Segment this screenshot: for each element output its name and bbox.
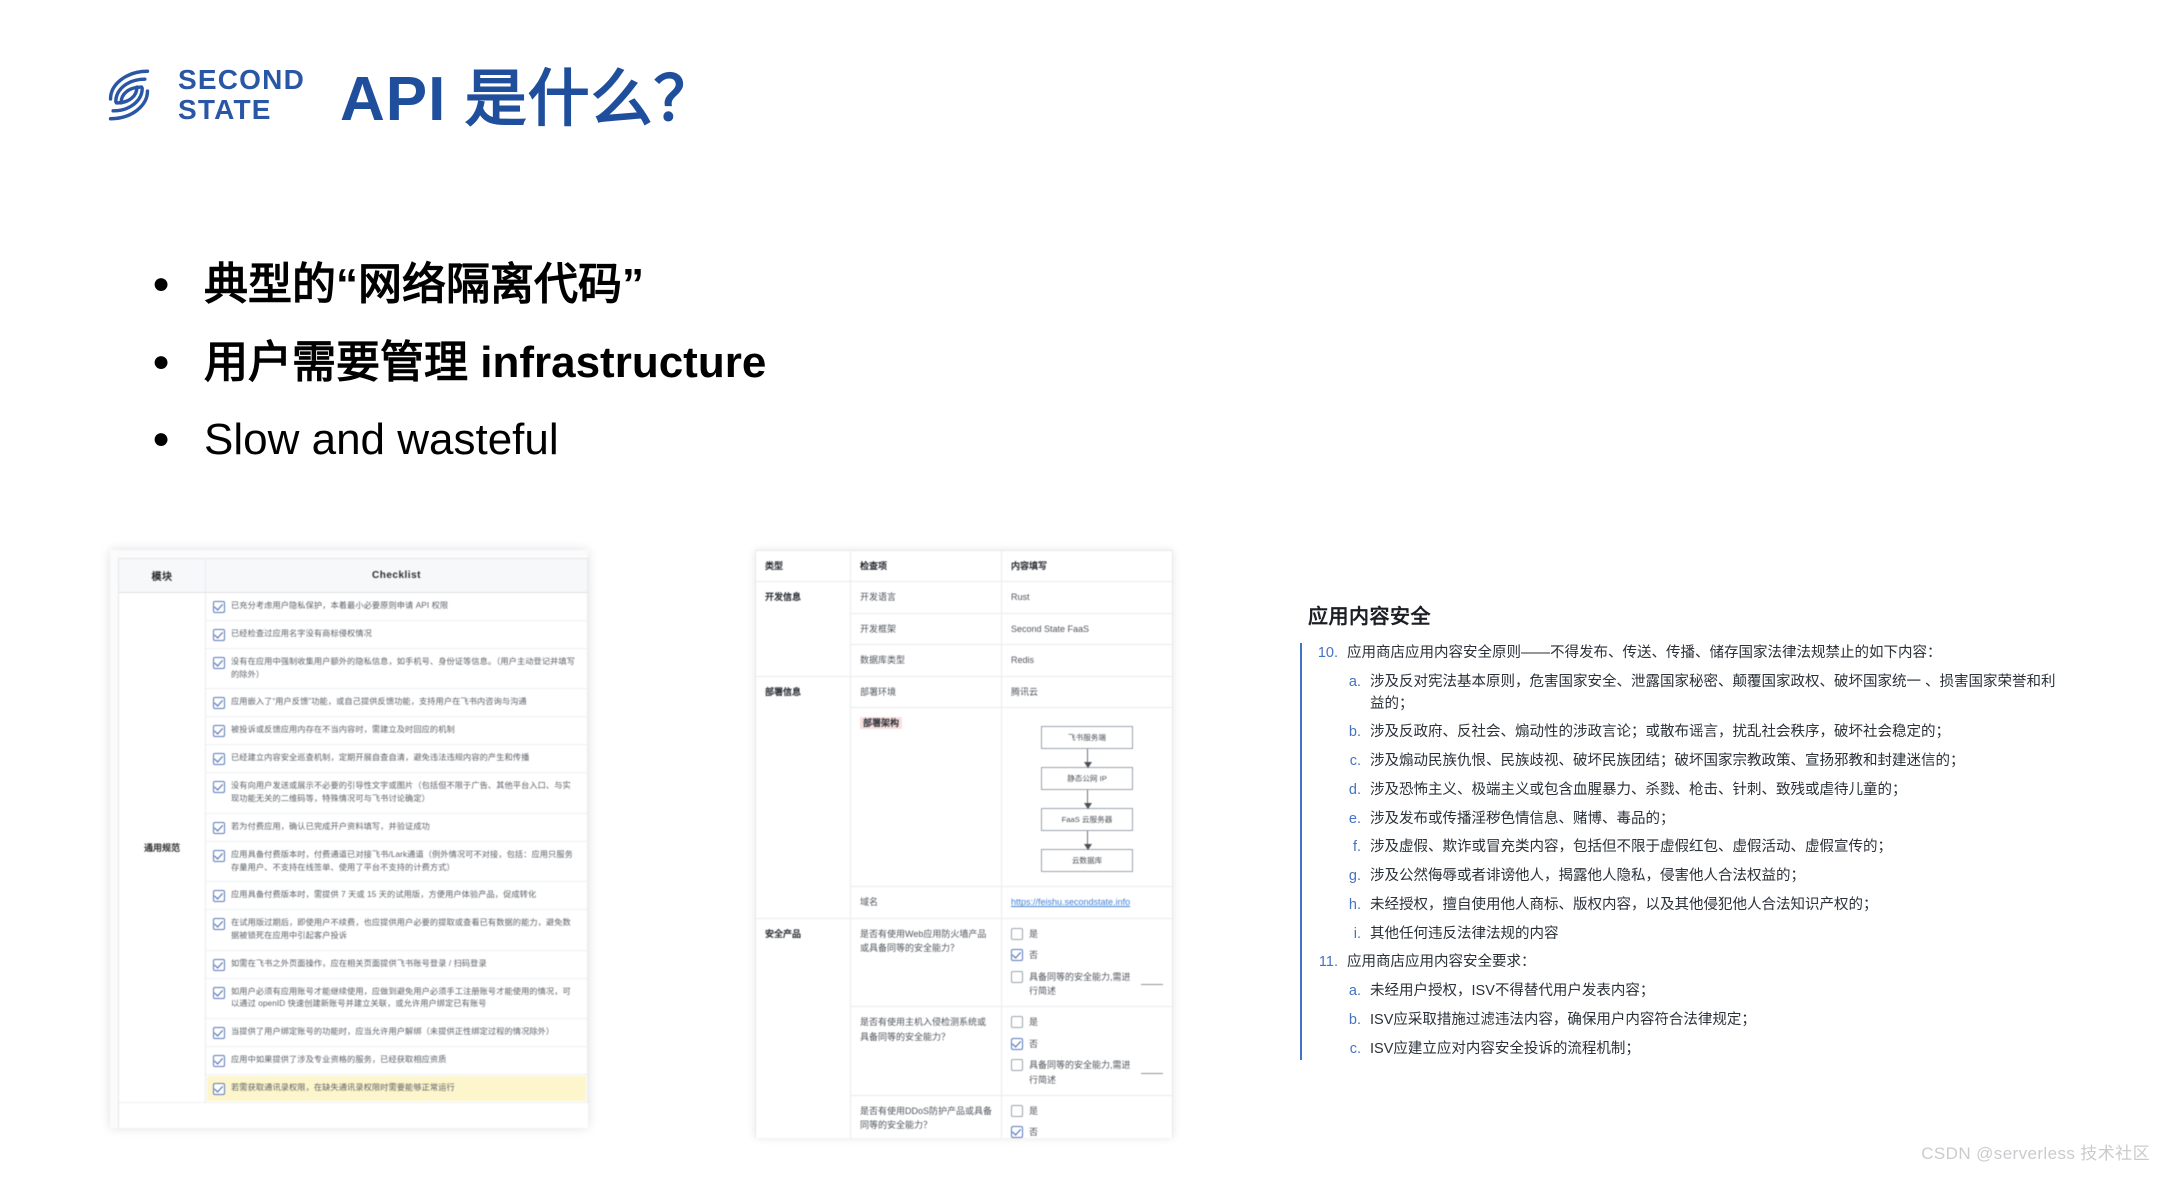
column-header-value: 内容填写 bbox=[1002, 551, 1173, 582]
question-label: 是否有使用Web应用防火墙产品或具备同等的安全能力？ bbox=[851, 918, 1002, 1007]
checklist-cell: 应用中如果提供了涉及专业资格的服务，已经获取相应资质 bbox=[206, 1047, 588, 1075]
checkbox-unchecked-icon[interactable] bbox=[1011, 928, 1023, 940]
checkbox-checked-icon[interactable] bbox=[213, 1055, 225, 1067]
option-label: 是 bbox=[1029, 1015, 1038, 1029]
policy-subitem-letter: h. bbox=[1348, 895, 1361, 917]
checklist-item: 应用中如果提供了涉及专业资格的服务，已经获取相应资质 bbox=[207, 1048, 586, 1073]
question-label: 是否有使用DDoS防护产品或具备同等的安全能力？ bbox=[851, 1095, 1002, 1138]
bullet-label: 典型的“网络隔离代码” bbox=[204, 258, 644, 312]
radio-option[interactable]: 是 bbox=[1011, 1015, 1163, 1029]
highlighted-cell-text: 部署架构 bbox=[860, 717, 902, 729]
checklist-item-label: 如用户必须有应用账号才能继续使用，应做到避免用户必须手工注册账号才能使用的情况，… bbox=[231, 986, 578, 1011]
list-item: ● 用户需要管理 infrastructure bbox=[150, 336, 1350, 390]
question-label: 是否有使用主机入侵检测系统或具备同等的安全能力？ bbox=[851, 1007, 1002, 1096]
row-value-domain: https://feishu.secondstate.info bbox=[1002, 887, 1173, 918]
checklist-cell: 应用具备付费版本时，付费通道已对接飞书/Lark通道（例外情况可不对接，包括：应… bbox=[206, 841, 588, 881]
policy-subitem-letter: a. bbox=[1348, 672, 1361, 716]
checkbox-unchecked-icon[interactable] bbox=[1011, 971, 1023, 983]
bullet-label: 用户需要管理 infrastructure bbox=[204, 336, 766, 390]
checklist-item-label: 若为付费应用，确认已完成开户资料填写，并验证成功 bbox=[231, 821, 430, 834]
checklist-item: 在试用版过期后，即使用户不续费，也应提供用户必要的提取或查看已有数据的能力，避免… bbox=[207, 911, 586, 948]
policy-subitem-text: 涉及反政府、反社会、煽动性的涉政言论；或散布谣言，扰乱社会秩序，破坏社会稳定的； bbox=[1370, 722, 1950, 744]
checklist-cell: 如用户必须有应用账号才能继续使用，应做到避免用户必须手工注册账号才能使用的情况，… bbox=[206, 978, 588, 1018]
checkbox-unchecked-icon[interactable] bbox=[1011, 1059, 1023, 1071]
checklist-item-label: 被投诉或反馈应用内存在不当内容时，需建立及时回应的机制 bbox=[231, 724, 455, 737]
policy-subitem: b.涉及反政府、反社会、煽动性的涉政言论；或散布谣言，扰乱社会秩序，破坏社会稳定… bbox=[1348, 722, 2070, 744]
checklist-cell: 如需在飞书之外页面操作，应在相关页面提供飞书账号登录 / 扫码登录 bbox=[206, 950, 588, 978]
policy-subitem: d.涉及恐怖主义、极端主义或包含血腥暴力、杀戮、枪击、针刺、致残或虐待儿童的； bbox=[1348, 780, 2070, 802]
policy-subitem-text: 涉及虚假、欺诈或冒充类内容，包括但不限于虚假红包、虚假活动、虚假宣传的； bbox=[1370, 837, 1892, 859]
brand-line-2: STATE bbox=[178, 95, 305, 125]
column-header-type: 类型 bbox=[756, 551, 851, 582]
column-header-item: 检查项 bbox=[851, 551, 1002, 582]
policy-subitem-text: 涉及恐怖主义、极端主义或包含血腥暴力、杀戮、枪击、针刺、致残或虐待儿童的； bbox=[1370, 780, 1907, 802]
checklist-item: 被投诉或反馈应用内存在不当内容时，需建立及时回应的机制 bbox=[207, 718, 586, 743]
checklist-item: 如需在飞书之外页面操作，应在相关页面提供飞书账号登录 / 扫码登录 bbox=[207, 952, 586, 977]
write-in-field[interactable] bbox=[1141, 970, 1163, 985]
checklist-cell: 应用具备付费版本时，需提供 7 天或 15 天的试用版，方便用户体验产品，促成转… bbox=[206, 882, 588, 910]
watermark: CSDN @serverless 技术社区 bbox=[1921, 1139, 2150, 1164]
checklist-item: 当提供了用户绑定账号的功能时，应当允许用户解绑（未提供正性绑定过程的情况除外） bbox=[207, 1020, 586, 1045]
policy-section: 11.应用商店应用内容安全要求： bbox=[1316, 952, 2070, 974]
checkbox-checked-icon[interactable] bbox=[213, 890, 225, 902]
policy-subitem-letter: i. bbox=[1348, 924, 1361, 946]
policy-subitem-text: 未经授权，擅自使用他人商标、版权内容，以及其他侵犯他人合法知识产权的； bbox=[1370, 895, 1878, 917]
checkbox-checked-icon[interactable] bbox=[213, 987, 225, 999]
checklist-item: 若为付费应用，确认已完成开户资料填写，并验证成功 bbox=[207, 815, 586, 840]
checklist-item: 已经检查过应用名字没有商标侵权情况 bbox=[207, 622, 586, 647]
checklist-item-label: 应用具备付费版本时，需提供 7 天或 15 天的试用版，方便用户体验产品，促成转… bbox=[231, 889, 536, 902]
checkbox-checked-icon[interactable] bbox=[213, 753, 225, 765]
checklist-cell: 被投诉或反馈应用内存在不当内容时，需建立及时回应的机制 bbox=[206, 717, 588, 745]
policy-subitem-letter: g. bbox=[1348, 866, 1361, 888]
policy-subitem-letter: a. bbox=[1348, 981, 1361, 1003]
policy-title: 应用内容安全 bbox=[1308, 600, 2070, 629]
checklist-item-label: 应用具备付费版本时，付费通道已对接飞书/Lark通道（例外情况可不对接，包括：应… bbox=[231, 849, 578, 874]
table-header-row: 模块 Checklist bbox=[119, 559, 588, 593]
policy-subitem: a.涉及反对宪法基本原则，危害国家安全、泄露国家秘密、颠覆国家政权、破坏国家统一… bbox=[1348, 672, 2070, 716]
checkbox-checked-icon[interactable] bbox=[213, 725, 225, 737]
checklist-item: 应用嵌入了“用户反馈”功能，或自己提供反馈功能，支持用户在飞书内咨询与沟通 bbox=[207, 690, 586, 715]
option-label: 具备同等的安全能力,需进行简述 bbox=[1029, 1058, 1135, 1087]
checklist-item-label: 没有在应用中强制收集用户额外的隐私信息，如手机号、身份证等信息。（用户主动登记并… bbox=[231, 656, 578, 681]
policy-subitem: c.涉及煽动民族仇恨、民族歧视、破坏民族团结；破坏国家宗教政策、宣扬邪教和封建迷… bbox=[1348, 751, 2070, 773]
list-item: ● Slow and wasteful bbox=[150, 413, 1350, 467]
checkbox-checked-icon[interactable] bbox=[213, 1027, 225, 1039]
policy-subitem: h.未经授权，擅自使用他人商标、版权内容，以及其他侵犯他人合法知识产权的； bbox=[1348, 895, 2070, 917]
option-label: 否 bbox=[1029, 1125, 1038, 1138]
policy-subitem: c.ISV应建立应对内容安全投诉的流程机制； bbox=[1348, 1039, 2070, 1061]
option-label: 是 bbox=[1029, 1104, 1038, 1118]
checklist-item: 应用具备付费版本时，付费通道已对接飞书/Lark通道（例外情况可不对接，包括：应… bbox=[207, 843, 586, 880]
policy-subitem-letter: d. bbox=[1348, 780, 1361, 802]
policy-section-number: 10. bbox=[1316, 643, 1338, 665]
option-label: 是 bbox=[1029, 927, 1038, 941]
bullet-marker-icon: ● bbox=[150, 336, 204, 388]
checklist-cell: 若需获取通讯录权限，在缺失通讯录权限时需要能够正常运行 bbox=[206, 1075, 588, 1103]
policy-subitem-text: ISV应建立应对内容安全投诉的流程机制； bbox=[1370, 1039, 1640, 1061]
policy-subitem-letter: b. bbox=[1348, 722, 1361, 744]
row-label-domain: 域名 bbox=[851, 887, 1002, 918]
checkbox-checked-icon[interactable] bbox=[213, 629, 225, 641]
row-label-deploy-env: 部署环境 bbox=[851, 676, 1002, 707]
policy-subitem-text: 涉及公然侮辱或者诽谤他人，揭露他人隐私，侵害他人合法权益的； bbox=[1370, 866, 1805, 888]
checkbox-checked-icon[interactable] bbox=[213, 822, 225, 834]
checklist-item: 没有在应用中强制收集用户额外的隐私信息，如手机号、身份证等信息。（用户主动登记并… bbox=[207, 650, 586, 687]
policy-subitem-text: 其他任何违反法律法规的内容 bbox=[1370, 924, 1559, 946]
screenshot-content-security-policy: 应用内容安全 10.应用商店应用内容安全原则——不得发布、传送、传播、储存国家法… bbox=[1300, 600, 2070, 1060]
checklist-item: 已经建立内容安全巡查机制，定期开展自查自清，避免违法违规内容的产生和传播 bbox=[207, 746, 586, 771]
checkbox-unchecked-icon[interactable] bbox=[1011, 1105, 1023, 1117]
radio-option[interactable]: 是 bbox=[1011, 927, 1163, 941]
checkbox-checked-icon[interactable] bbox=[213, 918, 225, 930]
checklist-item-label: 若需获取通讯录权限，在缺失通讯录权限时需要能够正常运行 bbox=[231, 1082, 455, 1095]
row-label-db-type: 数据库类型 bbox=[851, 645, 1002, 676]
screenshot-checklist-table: 模块 Checklist 通用规范已充分考虑用户隐私保护，本着最小必要原则申请 … bbox=[110, 550, 588, 1128]
checklist-cell: 当提供了用户绑定账号的功能时，应当允许用户解绑（未提供正性绑定过程的情况除外） bbox=[206, 1019, 588, 1047]
write-in-field[interactable] bbox=[1141, 1058, 1163, 1073]
checklist-item-label: 已经检查过应用名字没有商标侵权情况 bbox=[231, 628, 372, 641]
checklist-cell: 在试用版过期后，即使用户不续费，也应提供用户必要的提取或查看已有数据的能力，避免… bbox=[206, 910, 588, 950]
policy-subitem-letter: c. bbox=[1348, 751, 1361, 773]
checklist-item-label: 应用中如果提供了涉及专业资格的服务，已经获取相应资质 bbox=[231, 1054, 446, 1067]
checkbox-checked-icon[interactable] bbox=[213, 959, 225, 971]
option-label: 否 bbox=[1029, 948, 1038, 962]
checkbox-checked-icon[interactable] bbox=[213, 850, 225, 862]
policy-subitem-text: 涉及反对宪法基本原则，危害国家安全、泄露国家秘密、颠覆国家政权、破坏国家统一 、… bbox=[1370, 672, 2070, 716]
flow-arrow-down-icon bbox=[1087, 790, 1088, 808]
row-label-deploy-arch: 部署架构 bbox=[851, 707, 1002, 886]
policy-subitem-letter: e. bbox=[1348, 809, 1361, 831]
table-row: 开发信息 开发语言 Rust bbox=[756, 582, 1173, 613]
radio-option[interactable]: 是 bbox=[1011, 1104, 1163, 1118]
checklist-item-label: 已充分考虑用户隐私保护，本着最小必要原则申请 API 权限 bbox=[231, 600, 448, 613]
checklist-item: 没有向用户发送或展示不必要的引导性文字或图片（包括但不限于广告、其他平台入口、与… bbox=[207, 774, 586, 811]
checklist-table: 模块 Checklist 通用规范已充分考虑用户隐私保护，本着最小必要原则申请 … bbox=[119, 559, 588, 1103]
checklist-cell: 应用嵌入了“用户反馈”功能，或自己提供反馈功能，支持用户在飞书内咨询与沟通 bbox=[206, 689, 588, 717]
row-value-deploy-arch-diagram: 飞书服务端 静态公网 IP FaaS 云服务器 云数据库 bbox=[1002, 707, 1173, 886]
radio-option[interactable]: 具备同等的安全能力,需进行简述 bbox=[1011, 970, 1163, 999]
option-label: 具备同等的安全能力,需进行简述 bbox=[1029, 970, 1135, 999]
flow-arrow-down-icon bbox=[1087, 749, 1088, 767]
policy-body: 10.应用商店应用内容安全原则——不得发布、传送、传播、储存国家法律法规禁止的如… bbox=[1300, 643, 2070, 1060]
domain-link[interactable]: https://feishu.secondstate.info bbox=[1011, 897, 1130, 907]
answer-options-cell: 是否具备同等的安全能力,需进行简述 bbox=[1002, 1095, 1173, 1138]
policy-subitem: a.未经用户授权，ISV不得替代用户发表内容； bbox=[1348, 981, 2070, 1003]
policy-section-number: 11. bbox=[1316, 952, 1338, 974]
table-row: 安全产品是否有使用Web应用防火墙产品或具备同等的安全能力？是否具备同等的安全能… bbox=[756, 918, 1173, 1007]
bullet-label: Slow and wasteful bbox=[204, 413, 559, 467]
policy-subitem: f.涉及虚假、欺诈或冒充类内容，包括但不限于虚假红包、虚假活动、虚假宣传的； bbox=[1348, 837, 2070, 859]
policy-section: 10.应用商店应用内容安全原则——不得发布、传送、传播、储存国家法律法规禁止的如… bbox=[1316, 643, 2070, 665]
column-header-module: 模块 bbox=[119, 559, 206, 593]
option-label: 否 bbox=[1029, 1037, 1038, 1051]
policy-subitem-letter: b. bbox=[1348, 1010, 1361, 1032]
row-label-dev-language: 开发语言 bbox=[851, 582, 1002, 613]
checklist-item-label: 当提供了用户绑定账号的功能时，应当允许用户解绑（未提供正性绑定过程的情况除外） bbox=[231, 1026, 554, 1039]
radio-option[interactable]: 否 bbox=[1011, 1037, 1163, 1051]
policy-subitem: g.涉及公然侮辱或者诽谤他人，揭露他人隐私，侵害他人合法权益的； bbox=[1348, 866, 2070, 888]
bullet-marker-icon: ● bbox=[150, 258, 204, 310]
bullet-list: ● 典型的“网络隔离代码” ● 用户需要管理 infrastructure ● … bbox=[150, 258, 1350, 491]
checklist-cell: 若为付费应用，确认已完成开户资料填写，并验证成功 bbox=[206, 813, 588, 841]
row-value-dev-framework: Second State FaaS bbox=[1002, 613, 1173, 644]
checklist-item: 若需获取通讯录权限，在缺失通讯录权限时需要能够正常运行 bbox=[207, 1076, 586, 1101]
flow-node: 飞书服务端 bbox=[1041, 726, 1133, 749]
checklist-item: 已充分考虑用户隐私保护，本着最小必要原则申请 API 权限 bbox=[207, 594, 586, 619]
answer-options-cell: 是否具备同等的安全能力,需进行简述 bbox=[1002, 1007, 1173, 1096]
checklist-cell: 没有向用户发送或展示不必要的引导性文字或图片（包括但不限于广告、其他平台入口、与… bbox=[206, 773, 588, 813]
table-row: 部署信息 部署环境 腾讯云 bbox=[756, 676, 1173, 707]
policy-subitem: e.涉及发布或传播淫秽色情信息、赌博、毒品的； bbox=[1348, 809, 2070, 831]
bullet-marker-icon: ● bbox=[150, 413, 204, 465]
row-value-dev-language: Rust bbox=[1002, 582, 1173, 613]
checkbox-checked-icon[interactable] bbox=[1011, 949, 1023, 961]
policy-subitem: b.ISV应采取措施过滤违法内容，确保用户内容符合法律规定； bbox=[1348, 1010, 2070, 1032]
radio-option[interactable]: 否 bbox=[1011, 948, 1163, 962]
flow-arrow-down-icon bbox=[1087, 831, 1088, 849]
policy-subitem: i.其他任何违反法律法规的内容 bbox=[1348, 924, 2070, 946]
deployment-flow-diagram: 飞书服务端 静态公网 IP FaaS 云服务器 云数据库 bbox=[1011, 716, 1163, 878]
checklist-item-label: 应用嵌入了“用户反馈”功能，或自己提供反馈功能，支持用户在飞书内咨询与沟通 bbox=[231, 696, 527, 709]
checkbox-checked-icon[interactable] bbox=[213, 1083, 225, 1095]
policy-section-text: 应用商店应用内容安全要求： bbox=[1347, 952, 1536, 974]
row-label-dev-framework: 开发框架 bbox=[851, 613, 1002, 644]
radio-option[interactable]: 具备同等的安全能力,需进行简述 bbox=[1011, 1058, 1163, 1087]
checklist-cell: 已充分考虑用户隐私保护，本着最小必要原则申请 API 权限 bbox=[206, 593, 588, 621]
checklist-cell: 已经检查过应用名字没有商标侵权情况 bbox=[206, 621, 588, 649]
checkbox-checked-icon[interactable] bbox=[213, 781, 225, 793]
checklist-item-label: 在试用版过期后，即使用户不续费，也应提供用户必要的提取或查看已有数据的能力，避免… bbox=[231, 917, 578, 942]
row-group-deploy-info: 部署信息 bbox=[756, 676, 851, 918]
flow-node: 静态公网 IP bbox=[1041, 767, 1133, 790]
checklist-item: 应用具备付费版本时，需提供 7 天或 15 天的试用版，方便用户体验产品，促成转… bbox=[207, 883, 586, 908]
row-group-module-label: 通用规范 bbox=[119, 593, 206, 1103]
checklist-item-label: 如需在飞书之外页面操作，应在相关页面提供飞书账号登录 / 扫码登录 bbox=[231, 958, 487, 971]
radio-option[interactable]: 否 bbox=[1011, 1125, 1163, 1138]
checklist-item: 如用户必须有应用账号才能继续使用，应做到避免用户必须手工注册账号才能使用的情况，… bbox=[207, 980, 586, 1017]
row-group-dev-info: 开发信息 bbox=[756, 582, 851, 676]
checklist-cell: 已经建立内容安全巡查机制，定期开展自查自清，避免违法违规内容的产生和传播 bbox=[206, 745, 588, 773]
row-group-security-products: 安全产品 bbox=[756, 918, 851, 1138]
row-value-db-type: Redis bbox=[1002, 645, 1173, 676]
row-value-deploy-env: 腾讯云 bbox=[1002, 676, 1173, 707]
checkbox-checked-icon[interactable] bbox=[213, 657, 225, 669]
checkbox-checked-icon[interactable] bbox=[1011, 1038, 1023, 1050]
column-header-checklist: Checklist bbox=[206, 559, 588, 593]
table-header-row: 类型 检查项 内容填写 bbox=[756, 551, 1173, 582]
policy-subitem-text: 涉及发布或传播淫秽色情信息、赌博、毒品的； bbox=[1370, 809, 1675, 831]
policy-subitem-text: 涉及煽动民族仇恨、民族歧视、破坏民族团结；破坏国家宗教政策、宣扬邪教和封建迷信的… bbox=[1370, 751, 1965, 773]
page-title: API 是什么？ bbox=[340, 48, 717, 138]
brand-line-1: SECOND bbox=[178, 65, 305, 95]
flow-node: FaaS 云服务器 bbox=[1041, 808, 1133, 831]
checkbox-unchecked-icon[interactable] bbox=[1011, 1016, 1023, 1028]
checkbox-checked-icon[interactable] bbox=[213, 697, 225, 709]
list-item: ● 典型的“网络隔离代码” bbox=[150, 258, 1350, 312]
policy-subitem-letter: c. bbox=[1348, 1039, 1361, 1061]
policy-section-text: 应用商店应用内容安全原则——不得发布、传送、传播、储存国家法律法规禁止的如下内容… bbox=[1347, 643, 1942, 665]
checkbox-checked-icon[interactable] bbox=[213, 601, 225, 613]
checklist-cell: 没有在应用中强制收集用户额外的隐私信息，如手机号、身份证等信息。（用户主动登记并… bbox=[206, 649, 588, 689]
policy-subitem-text: 未经用户授权，ISV不得替代用户发表内容； bbox=[1370, 981, 1654, 1003]
policy-subitem-letter: f. bbox=[1348, 837, 1361, 859]
brand-wordmark: SECOND STATE bbox=[178, 65, 305, 125]
review-form-table: 类型 检查项 内容填写 开发信息 开发语言 Rust 开发框架 Second S… bbox=[755, 550, 1173, 1138]
policy-subitem-text: ISV应采取措施过滤违法内容，确保用户内容符合法律规定； bbox=[1370, 1010, 1756, 1032]
answer-options-cell: 是否具备同等的安全能力,需进行简述 bbox=[1002, 918, 1173, 1007]
checkbox-checked-icon[interactable] bbox=[1011, 1126, 1023, 1138]
checklist-item-label: 没有向用户发送或展示不必要的引导性文字或图片（包括但不限于广告、其他平台入口、与… bbox=[231, 780, 578, 805]
second-state-swirl-logo-icon bbox=[96, 62, 162, 128]
brand-logo-block: SECOND STATE bbox=[96, 62, 305, 128]
checklist-item-label: 已经建立内容安全巡查机制，定期开展自查自清，避免违法违规内容的产生和传播 bbox=[231, 752, 529, 765]
table-row: 通用规范已充分考虑用户隐私保护，本着最小必要原则申请 API 权限 bbox=[119, 593, 588, 621]
screenshot-security-review-form: 类型 检查项 内容填写 开发信息 开发语言 Rust 开发框架 Second S… bbox=[755, 550, 1173, 1138]
flow-node: 云数据库 bbox=[1041, 849, 1133, 872]
